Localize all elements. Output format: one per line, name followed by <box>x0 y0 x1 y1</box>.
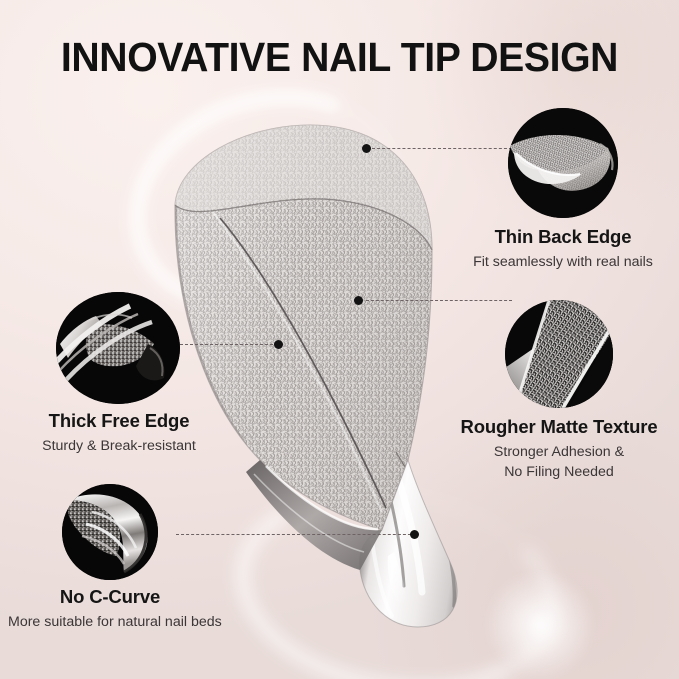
anchor-dot-thick-free-edge <box>274 340 283 349</box>
caption-title: Rougher Matte Texture <box>439 416 679 438</box>
caption-subtitle-line-1: Sturdy & Break-resistant <box>24 437 214 456</box>
caption-no-c-curve: No C-Curve More suitable for natural nai… <box>8 586 212 632</box>
caption-title: No C-Curve <box>8 586 212 608</box>
leader-line-thin-back-edge <box>372 148 512 149</box>
caption-thick-free-edge: Thick Free Edge Sturdy & Break-resistant <box>24 410 214 456</box>
caption-subtitle-line-1: More suitable for natural nail beds <box>8 613 212 632</box>
callout-rougher-matte-texture: Rougher Matte Texture Stronger Adhesion … <box>505 300 613 408</box>
anchor-dot-rougher-matte-texture <box>354 296 363 305</box>
caption-title: Thick Free Edge <box>24 410 214 432</box>
callout-no-c-curve: No C-Curve More suitable for natural nai… <box>62 484 158 580</box>
caption-thin-back-edge: Thin Back Edge Fit seamlessly with real … <box>455 226 671 272</box>
caption-title: Thin Back Edge <box>455 226 671 248</box>
thick-free-edge-photo <box>56 292 180 404</box>
caption-subtitle-line-1: Fit seamlessly with real nails <box>455 253 671 272</box>
no-c-curve-photo <box>62 484 158 580</box>
leader-line-thick-free-edge <box>180 344 278 345</box>
infographic-poster: INNOVATIVE NAIL TIP DESIGN <box>0 0 679 679</box>
leader-line-no-c-curve <box>176 534 416 535</box>
callout-thin-back-edge: Thin Back Edge Fit seamlessly with real … <box>508 108 618 218</box>
matte-texture-photo <box>505 300 613 408</box>
anchor-dot-thin-back-edge <box>362 144 371 153</box>
thin-back-edge-photo <box>508 108 618 218</box>
leader-line-rougher-matte-texture <box>366 300 512 301</box>
caption-rougher-matte-texture: Rougher Matte Texture Stronger Adhesion … <box>439 416 679 482</box>
anchor-dot-no-c-curve <box>410 530 419 539</box>
caption-subtitle-line-2: No Filing Needed <box>439 463 679 482</box>
caption-subtitle-line-1: Stronger Adhesion & <box>439 443 679 462</box>
callout-thick-free-edge: Thick Free Edge Sturdy & Break-resistant <box>56 292 180 404</box>
page-title: INNOVATIVE NAIL TIP DESIGN <box>15 34 663 81</box>
